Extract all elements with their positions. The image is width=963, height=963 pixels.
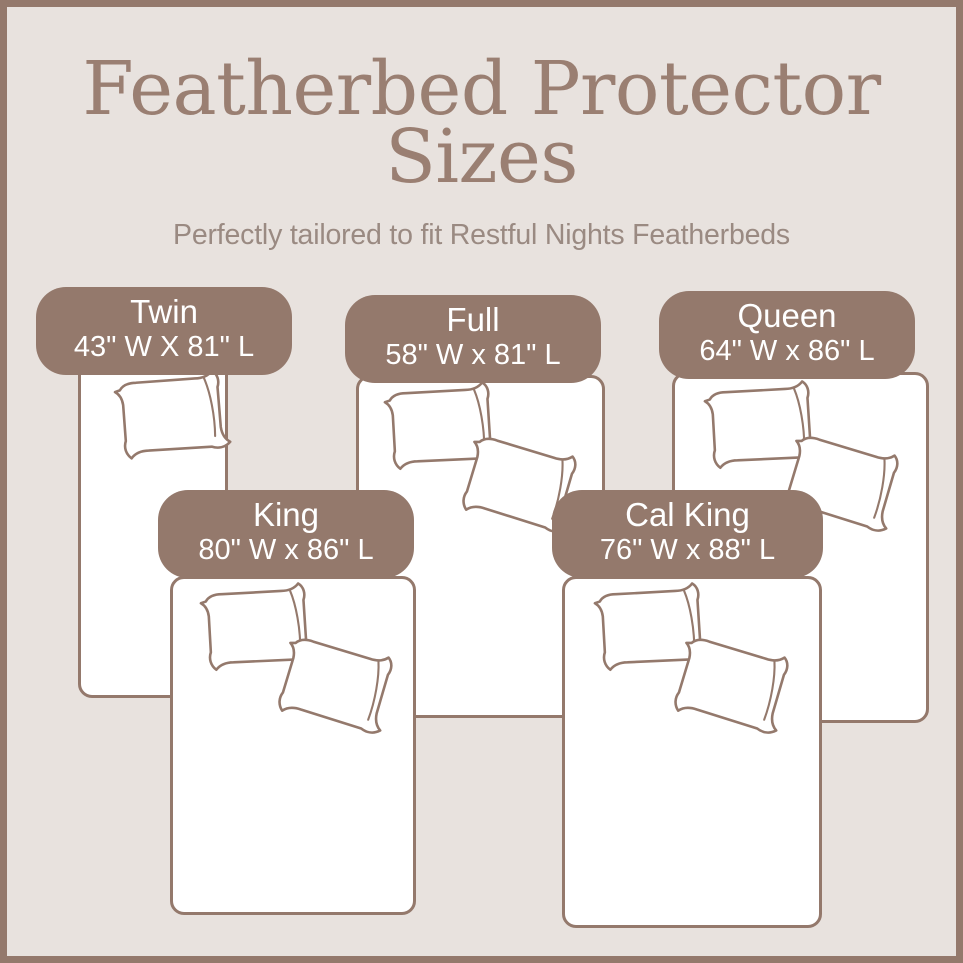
mattress-king <box>170 576 416 915</box>
size-badge-king-dimensions: 80" W x 86" L <box>198 534 373 567</box>
size-badge-full-dimensions: 58" W x 81" L <box>385 339 560 372</box>
size-badge-queen-dimensions: 64" W x 86" L <box>699 335 874 368</box>
size-badge-queen-name: Queen <box>737 298 836 335</box>
size-badge-king[interactable]: King 80" W x 86" L <box>158 490 414 578</box>
size-badge-cal-king-name: Cal King <box>625 497 750 534</box>
page-subtitle: Perfectly tailored to fit Restful Nights… <box>7 191 956 252</box>
size-badge-cal-king[interactable]: Cal King 76" W x 88" L <box>552 490 823 578</box>
size-badge-cal-king-dimensions: 76" W x 88" L <box>600 534 775 567</box>
size-badge-full[interactable]: Full 58" W x 81" L <box>345 295 601 383</box>
mattress-cal-king <box>562 576 822 928</box>
size-badge-full-name: Full <box>446 302 499 339</box>
page-title: Featherbed Protector Sizes <box>7 7 956 191</box>
header: Featherbed Protector Sizes Perfectly tai… <box>7 7 956 252</box>
size-badge-twin[interactable]: Twin 43" W X 81" L <box>36 287 292 375</box>
size-badge-queen[interactable]: Queen 64" W x 86" L <box>659 291 915 379</box>
size-badge-twin-dimensions: 43" W X 81" L <box>74 331 254 364</box>
size-badge-king-name: King <box>253 497 319 534</box>
pillow-group-king <box>173 579 413 912</box>
pillow-group-cal-king <box>565 579 819 925</box>
infographic-canvas: Featherbed Protector Sizes Perfectly tai… <box>7 7 956 956</box>
size-badge-twin-name: Twin <box>130 294 198 331</box>
